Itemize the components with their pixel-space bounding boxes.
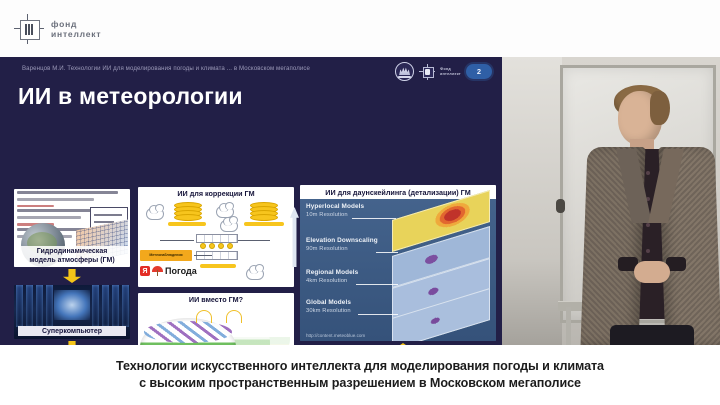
pill-corrected-forecast	[200, 264, 236, 268]
forward-arrow-1-icon	[196, 310, 212, 323]
speaker-hands	[634, 261, 670, 283]
gm-caption-line2: модель атмосферы (ГМ)	[14, 256, 130, 265]
fund-badge-text: Фонд интеллект	[440, 67, 461, 76]
slide-page-number: 2	[466, 64, 492, 79]
slide-header: Варенцов М.И. Технологии ИИ для моделиро…	[0, 57, 502, 83]
fund-intellect-logo-text: Фонд интеллект	[51, 19, 101, 39]
supercomputer-card: Суперкомпьютер	[14, 285, 130, 339]
layer-label-elevation: Elevation Downscaling 90m Resolution	[306, 237, 378, 252]
gm-model-card: Гидродинамическая модель атмосферы (ГМ)	[14, 189, 130, 267]
fund-intellect-logo-icon	[14, 14, 44, 44]
video-frame[interactable]: Варенцов М.И. Технологии ИИ для моделиро…	[0, 57, 720, 345]
bottom-caption: Технологии искусственного интеллекта для…	[0, 345, 720, 405]
database-stack-icon-left	[174, 202, 200, 219]
ai-instead-graphic: Google DeepMind	[138, 306, 294, 345]
layer-res-global: 30km Resolution	[306, 308, 351, 314]
speaker-figure	[578, 85, 720, 345]
speaker-torso	[584, 149, 716, 345]
downscaling-source-url: http://content.meteoblue.com	[306, 333, 365, 338]
slide-header-badges: Фонд интеллект 2	[395, 62, 492, 81]
yandex-weather-label: Погода	[165, 266, 197, 276]
pill-observations	[168, 222, 206, 226]
caption-line-2: с высоким пространственным разрешением в…	[139, 375, 581, 392]
cloud-icon-model-2	[220, 220, 238, 232]
yandex-weather-logo: Я Погода	[140, 266, 197, 276]
ai-correction-card: ИИ для коррекции ГМ	[138, 187, 294, 287]
database-stack-icon-right	[250, 202, 276, 219]
fund-badge-line2: интеллект	[440, 72, 461, 76]
slide-header-subtitle: Варенцов М.И. Технологии ИИ для моделиро…	[22, 65, 310, 72]
fund-intellect-logo: Фонд интеллект	[14, 14, 101, 44]
layer-res-regional: 4km Resolution	[306, 278, 358, 284]
top-bar: Фонд интеллект	[0, 0, 720, 57]
speaker-legs	[610, 325, 694, 345]
layer-res-elevation: 90m Resolution	[306, 246, 378, 252]
gm-caption-line1: Гидродинамическая	[14, 247, 130, 256]
supercomputer-caption: Суперкомпьютер	[18, 326, 126, 336]
fund-intellect-mark-icon	[419, 64, 435, 80]
layer-label-hyperlocal: Hyperlocal Models 10m Resolution	[306, 203, 364, 218]
umbrella-icon	[152, 266, 163, 276]
downscaling-layers: Hyperlocal Models 10m Resolution Elevati…	[300, 199, 496, 341]
speaker-hair-side	[650, 91, 670, 125]
whiteboard-leg-left	[566, 307, 571, 345]
ai-correction-diagram: Метеонаблюдения Я Погода	[138, 200, 294, 287]
cloud-icon-observed	[146, 208, 164, 220]
layer-label-global: Global Models 30km Resolution	[306, 299, 351, 314]
yandex-letter-icon: Я	[140, 266, 150, 276]
presentation-slide: Варенцов М.И. Технологии ИИ для моделиро…	[0, 57, 502, 345]
server-racks-graphic	[14, 285, 130, 327]
forward-arrow-2-icon	[226, 310, 242, 323]
layer-name-elevation: Elevation Downscaling	[306, 237, 378, 244]
cloud-icon-output	[246, 268, 264, 280]
slide-title: ИИ в метеорологии	[18, 83, 243, 110]
layer-res-hyperlocal: 10m Resolution	[306, 212, 364, 218]
layer-name-regional: Regional Models	[306, 269, 358, 276]
arrow-down-gm-to-supercomputer	[63, 269, 81, 283]
pill-model-data	[244, 222, 284, 226]
wall-left	[500, 57, 562, 345]
screenshot-root: Фонд интеллект	[0, 0, 720, 405]
layer-label-regional: Regional Models 4km Resolution	[306, 269, 358, 284]
ai-instead-card: ИИ вместо ГМ? Google DeepMind	[138, 293, 294, 345]
downscaling-card: ИИ для даунскейлинга (детализации) ГМ Hy…	[300, 185, 496, 341]
neural-network-graphic	[196, 234, 236, 260]
wall-knob	[556, 199, 565, 213]
meteo-observations-label: Метеонаблюдения	[140, 250, 192, 261]
fund-logo-line1: Фонд	[51, 19, 101, 29]
layer-name-global: Global Models	[306, 299, 351, 306]
gm-model-caption: Гидродинамическая модель атмосферы (ГМ)	[14, 246, 130, 267]
layer-name-hyperlocal: Hyperlocal Models	[306, 203, 364, 210]
caption-line-1: Технологии искусственного интеллекта для…	[116, 358, 604, 375]
fund-logo-line2: интеллект	[51, 29, 101, 39]
ai-instead-title: ИИ вместо ГМ?	[138, 293, 294, 305]
ai-correction-title: ИИ для коррекции ГМ	[138, 187, 294, 199]
university-emblem-icon	[395, 62, 414, 81]
